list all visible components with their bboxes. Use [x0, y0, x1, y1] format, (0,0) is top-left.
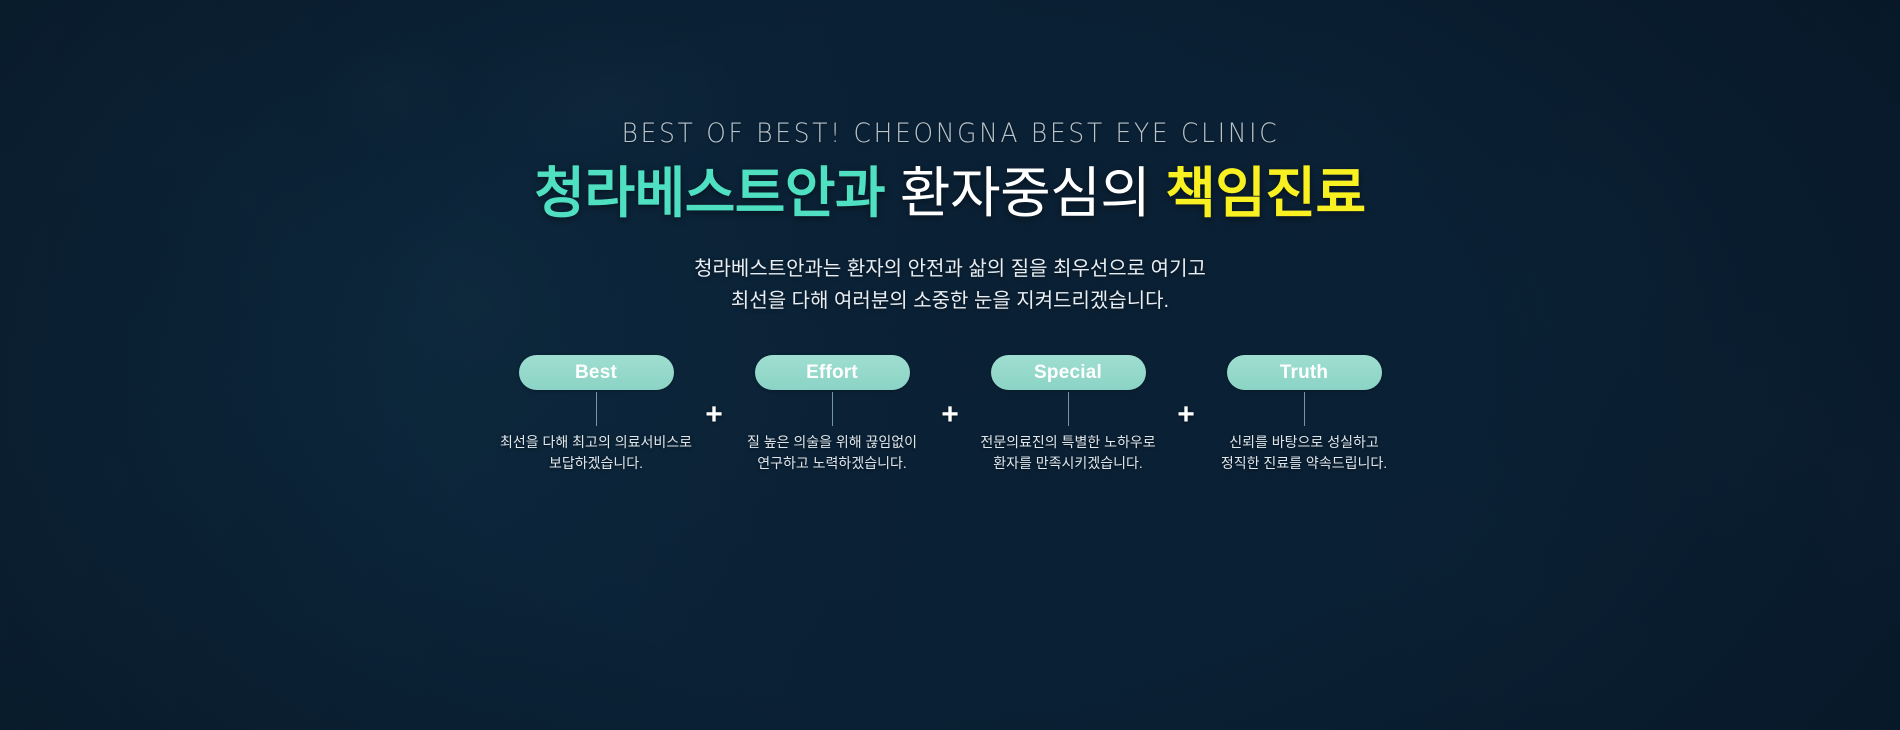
pillar-badge-effort[interactable]: Effort: [755, 355, 910, 390]
hero-headline: 청라베스트안과 환자중심의 책임진료: [534, 163, 1365, 225]
pillar-caption-special: 전문의료진의 특별한 노하우로 환자를 만족시키겠습니다.: [980, 432, 1155, 473]
pillar-caption-line-2: 연구하고 노력하겠습니다.: [747, 453, 917, 473]
pillar-connector-line: [832, 392, 833, 426]
pillar-item-special: Special 전문의료진의 특별한 노하우로 환자를 만족시키겠습니다.: [973, 355, 1163, 473]
pillar-connector-line: [596, 392, 597, 426]
pillar-connector-line: [1068, 392, 1069, 426]
pillar-caption-line-2: 환자를 만족시키겠습니다.: [980, 453, 1155, 473]
pillar-caption-line-1: 최선을 다해 최고의 의료서비스로: [500, 432, 692, 452]
plus-separator-icon-2: +: [927, 397, 973, 432]
pillar-item-truth: Truth 신뢰를 바탕으로 성실하고 정직한 진료를 약속드립니다.: [1209, 355, 1399, 473]
pillar-caption-truth: 신뢰를 바탕으로 성실하고 정직한 진료를 약속드립니다.: [1221, 432, 1387, 473]
pillar-connector-line: [1304, 392, 1305, 426]
pillar-item-best: Best 최선을 다해 최고의 의료서비스로 보답하겠습니다.: [501, 355, 691, 473]
hero-description: 청라베스트안과는 환자의 안전과 삶의 질을 최우선으로 여기고 최선을 다해 …: [694, 253, 1206, 318]
headline-responsible-care: 책임진료: [1165, 162, 1365, 224]
pillar-badge-special[interactable]: Special: [991, 355, 1146, 390]
description-line-1: 청라베스트안과는 환자의 안전과 삶의 질을 최우선으로 여기고: [694, 253, 1206, 285]
hero-content: BEST OF BEST! CHEONGNA BEST EYE CLINIC 청…: [0, 0, 1900, 730]
pillar-caption-line-1: 전문의료진의 특별한 노하우로: [980, 432, 1155, 452]
pillar-caption-best: 최선을 다해 최고의 의료서비스로 보답하겠습니다.: [500, 432, 692, 473]
hero-banner: BEST OF BEST! CHEONGNA BEST EYE CLINIC 청…: [0, 0, 1900, 730]
pillar-caption-line-1: 신뢰를 바탕으로 성실하고: [1221, 432, 1387, 452]
pillar-caption-line-2: 정직한 진료를 약속드립니다.: [1221, 453, 1387, 473]
pillar-item-effort: Effort 질 높은 의술을 위해 끊임없이 연구하고 노력하겠습니다.: [737, 355, 927, 473]
headline-patient-centered: 환자중심의: [900, 162, 1151, 224]
description-line-2: 최선을 다해 여러분의 소중한 눈을 지켜드리겠습니다.: [694, 285, 1206, 317]
pillar-badge-best[interactable]: Best: [519, 355, 674, 390]
pillar-badge-row: Best 최선을 다해 최고의 의료서비스로 보답하겠습니다. + Effort…: [501, 355, 1399, 473]
plus-separator-icon-1: +: [691, 397, 737, 432]
pillar-caption-effort: 질 높은 의술을 위해 끊임없이 연구하고 노력하겠습니다.: [747, 432, 917, 473]
pillar-caption-line-1: 질 높은 의술을 위해 끊임없이: [747, 432, 917, 452]
pillar-badge-truth[interactable]: Truth: [1227, 355, 1382, 390]
plus-separator-icon-3: +: [1163, 397, 1209, 432]
hero-eyebrow-text: BEST OF BEST! CHEONGNA BEST EYE CLINIC: [621, 118, 1279, 149]
headline-clinic-name: 청라베스트안과: [534, 162, 885, 224]
pillar-caption-line-2: 보답하겠습니다.: [500, 453, 692, 473]
